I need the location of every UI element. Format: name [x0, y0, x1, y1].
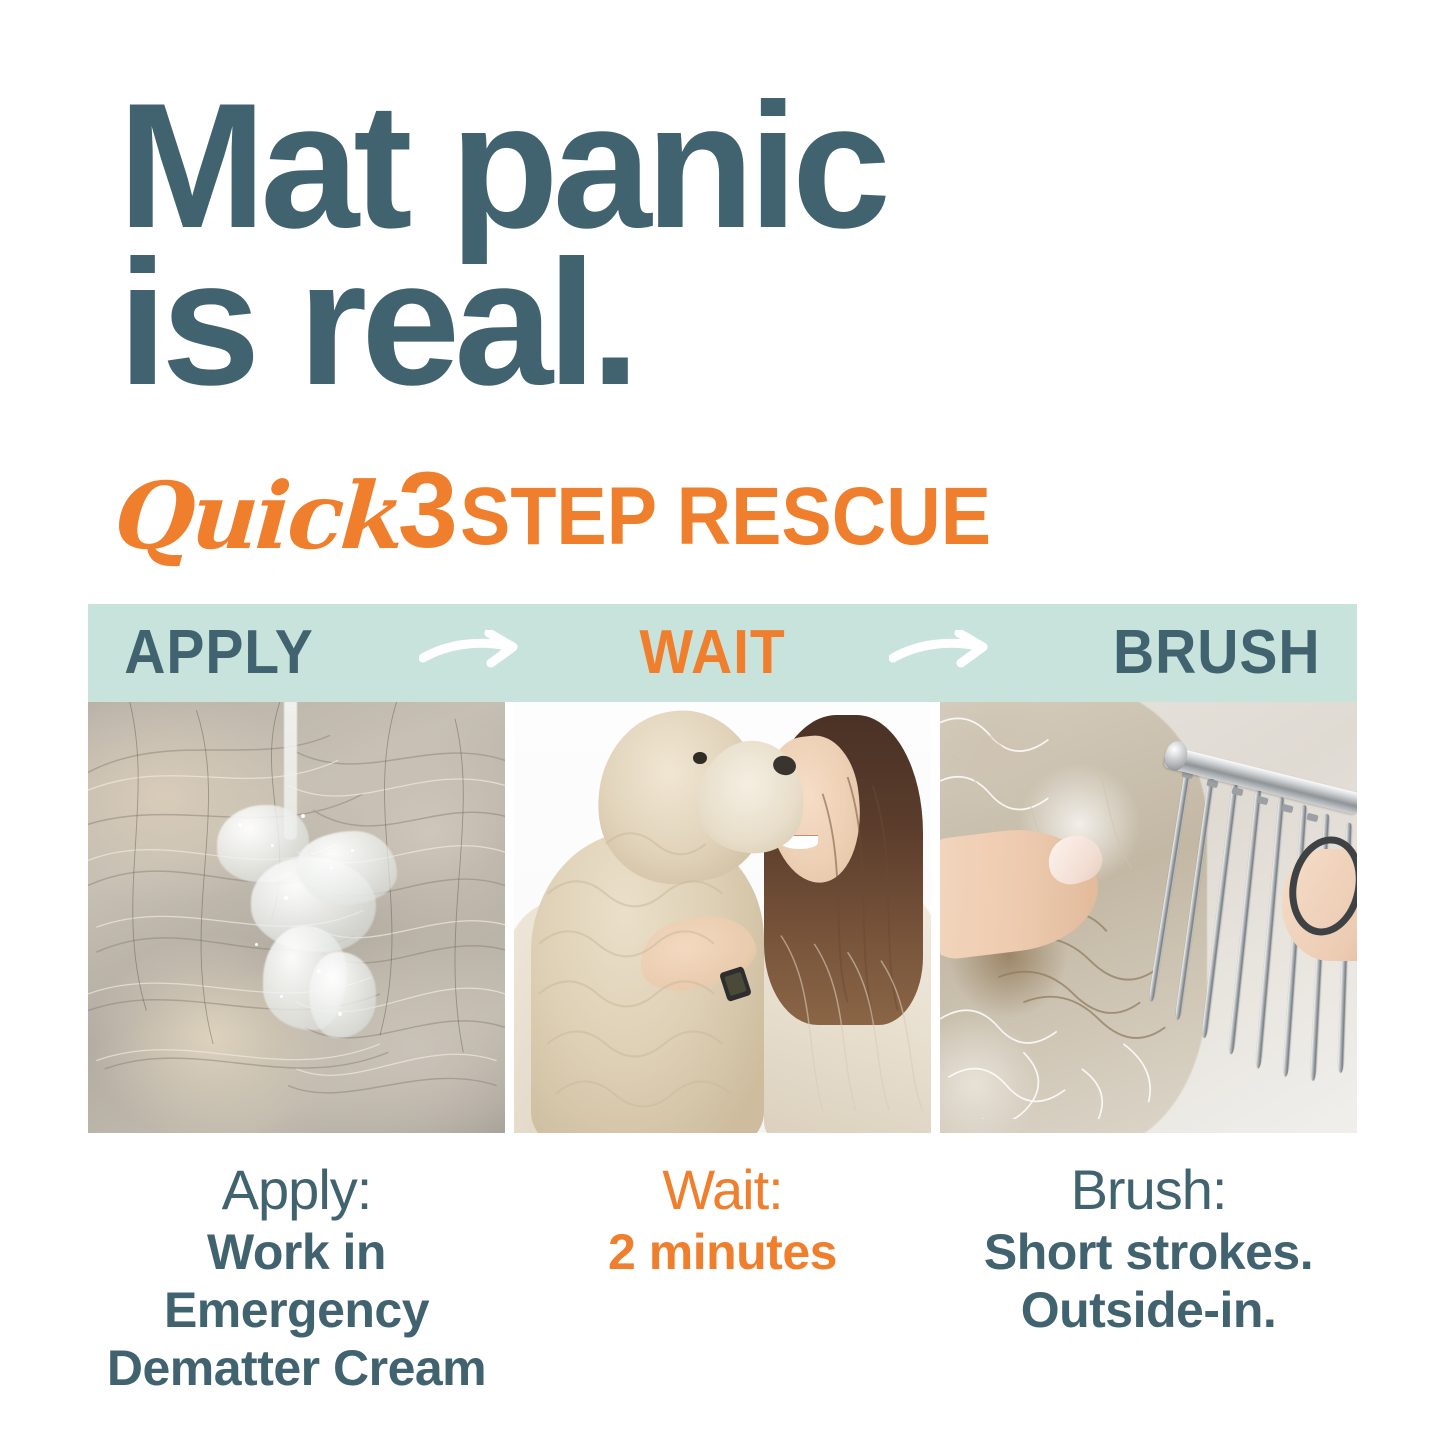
photo-row [88, 702, 1357, 1133]
photo-apply-gel-on-fur [88, 702, 505, 1133]
banner-step-apply: APPLY [124, 622, 314, 684]
photo-wait-woman-hugging-dog [514, 702, 931, 1133]
caption-apply: Apply: Work in Emergency Dematter Cream [88, 1160, 505, 1397]
banner-step-wait: WAIT [640, 622, 786, 684]
page-title: Mat panic is real. [118, 88, 1218, 401]
gel-blob [297, 831, 397, 904]
photo-brush-comb-through-fur [940, 702, 1357, 1133]
caption-apply-lead: Apply: [88, 1160, 505, 1219]
caption-brush-body: Short strokes. Outside-in. [940, 1223, 1357, 1339]
caption-row: Apply: Work in Emergency Dematter Cream … [88, 1160, 1357, 1397]
subheadline-numeral: 3 [398, 456, 454, 564]
curved-arrow-right-icon-2 [889, 630, 1007, 676]
subheadline-rest: STEP RESCUE [460, 476, 991, 558]
caption-wait-body: 2 minutes [514, 1223, 931, 1281]
curved-arrow-right-icon [419, 630, 537, 676]
caption-brush-lead: Brush: [940, 1160, 1357, 1219]
caption-wait-lead: Wait: [514, 1160, 931, 1219]
caption-wait: Wait: 2 minutes [514, 1160, 931, 1397]
gel-blob [309, 952, 376, 1038]
banner-step-brush: BRUSH [1113, 622, 1320, 684]
subheadline-script-word: Quick [112, 470, 405, 562]
step-banner: APPLY WAIT BRUSH [88, 604, 1357, 702]
headline-line-2: is real. [118, 245, 1218, 402]
caption-apply-body: Work in Emergency Dematter Cream [88, 1223, 505, 1397]
infographic-canvas: Mat panic is real. Quick 3 STEP RESCUE A… [0, 0, 1445, 1445]
subheadline: Quick 3 STEP RESCUE [115, 448, 1037, 556]
caption-brush: Brush: Short strokes. Outside-in. [940, 1160, 1357, 1397]
